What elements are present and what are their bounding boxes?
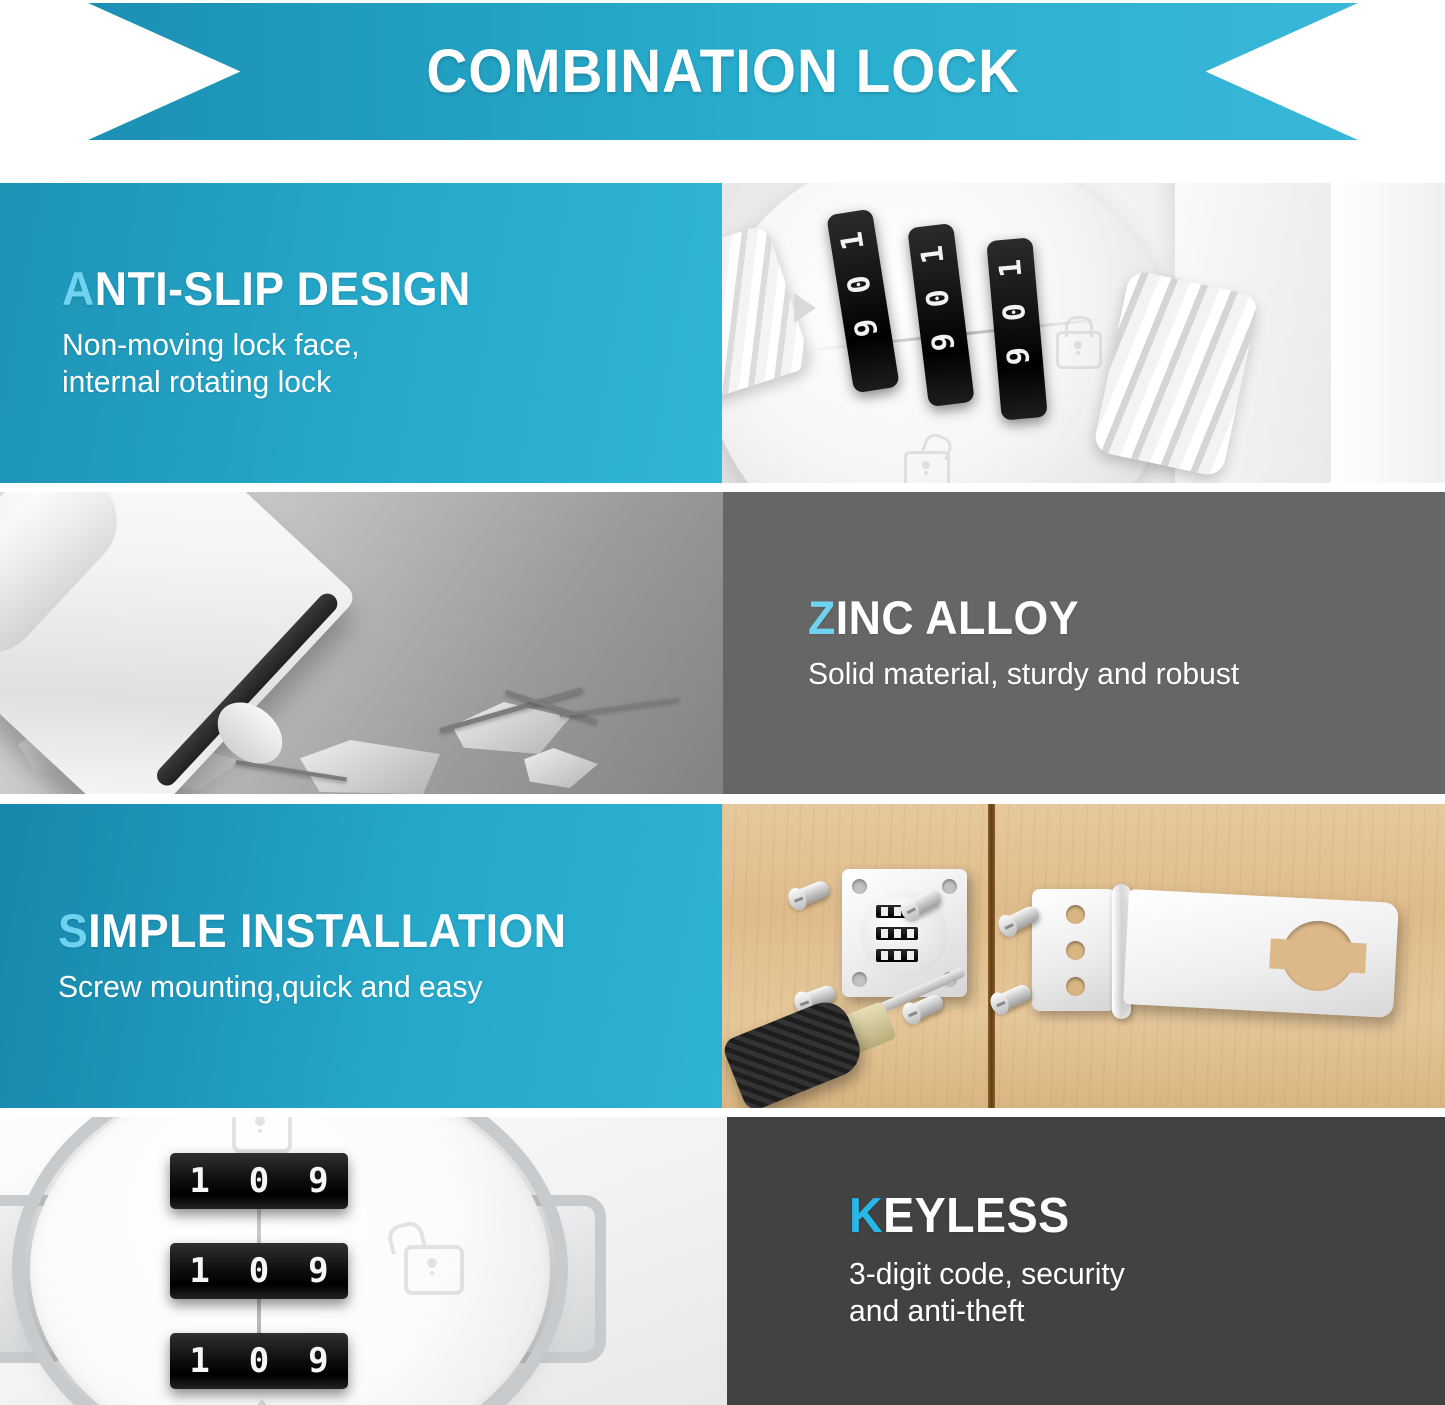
- feature-heading: ZINC ALLOY: [808, 594, 1413, 642]
- dial-digit: 9: [308, 1164, 328, 1198]
- padlock-locked-icon: [1056, 331, 1102, 369]
- page-title: COMBINATION LOCK: [426, 41, 1020, 102]
- dial-digit: 9: [308, 1344, 328, 1378]
- installation-photo: [722, 804, 1445, 1108]
- lock-face-macro-photo: 109 109 109: [722, 183, 1445, 483]
- feature-heading-rest: INC ALLOY: [836, 591, 1079, 644]
- dial-digit: 1: [916, 230, 951, 279]
- crack-line: [560, 697, 679, 717]
- pointer-triangle-icon: [238, 1399, 286, 1405]
- dial-digit: 0: [249, 1344, 269, 1378]
- door-seam: [988, 804, 995, 1108]
- feature-panel-anti-slip-design: ANTI-SLIP DESIGN Non-moving lock face, i…: [0, 183, 1445, 483]
- feature-subtext: Screw mounting,quick and easy: [58, 968, 702, 1006]
- impact-crack-photo: [0, 492, 723, 794]
- dial-digit: 9: [1002, 332, 1036, 380]
- dial-digit: 1: [189, 1164, 209, 1198]
- feature-heading: KEYLESS: [849, 1192, 1415, 1242]
- padlock-open-icon: [904, 451, 950, 483]
- dial-digit: 9: [849, 303, 886, 353]
- dial-code-photo: 1 0 9 1 0 9 1 0 9: [0, 1117, 727, 1405]
- hasp-arm: [1123, 889, 1399, 1018]
- feature-subtext: Non-moving lock face, internal rotating …: [62, 326, 702, 402]
- feature-subtext-line2: and anti-theft: [849, 1292, 1427, 1330]
- lock-bezel-edge-shape: [1331, 183, 1445, 483]
- feature-subtext-line1: Solid material, sturdy and robust: [808, 655, 1426, 693]
- feature-image-dial-code-photo: 1 0 9 1 0 9 1 0 9: [0, 1117, 727, 1405]
- screw-hole: [852, 879, 867, 894]
- feature-heading-highlight: K: [849, 1189, 883, 1243]
- feature-subtext: 3-digit code, security and anti-theft: [849, 1255, 1427, 1331]
- lock-dial-strip: [876, 927, 918, 940]
- padlock-open-icon: [404, 1245, 464, 1295]
- dial-digit: 0: [999, 288, 1033, 336]
- pointer-arrow-icon: [794, 293, 816, 323]
- feature-image-impact-crack-photo: [0, 492, 723, 794]
- dial-digit: 1: [189, 1254, 209, 1288]
- feature-heading: SIMPLE INSTALLATION: [58, 907, 689, 955]
- dial-digit: 9: [927, 317, 962, 366]
- feature-heading: ANTI-SLIP DESIGN: [62, 265, 689, 313]
- screw-hole: [852, 972, 867, 987]
- banner-container: COMBINATION LOCK: [0, 0, 1445, 152]
- feature-subtext: Solid material, sturdy and robust: [808, 655, 1426, 693]
- screw-hole: [1066, 977, 1085, 996]
- lock-dial-strip: [876, 949, 918, 962]
- dial-digit: 1: [189, 1344, 209, 1378]
- hasp-base-plate: [1032, 889, 1116, 1011]
- screw-hole: [1066, 905, 1085, 924]
- feature-subtext-line2: internal rotating lock: [62, 363, 702, 401]
- feature-heading-rest: NTI-SLIP DESIGN: [95, 262, 471, 315]
- feature-heading-highlight: Z: [808, 591, 836, 644]
- dial-digit: 0: [249, 1254, 269, 1288]
- feature-heading-highlight: S: [58, 904, 88, 957]
- feature-subtext-line1: 3-digit code, security: [849, 1255, 1427, 1293]
- screw-hole: [942, 879, 957, 894]
- lock-dial-strip-2[interactable]: 1 0 9: [170, 1243, 348, 1299]
- feature-text-block: ZINC ALLOY Solid material, sturdy and ro…: [723, 492, 1445, 794]
- lock-dial-strip-1[interactable]: 1 0 9: [170, 1153, 348, 1209]
- feature-subtext-line1: Screw mounting,quick and easy: [58, 968, 702, 1006]
- lock-dial-strip-3[interactable]: 1 0 9: [170, 1333, 348, 1389]
- feature-heading-rest: IMPLE INSTALLATION: [88, 904, 566, 957]
- ground-chunk: [524, 748, 598, 788]
- padlock-locked-icon: [232, 1117, 292, 1153]
- feature-image-installation-photo: [722, 804, 1445, 1108]
- feature-heading-highlight: A: [62, 262, 95, 315]
- feature-text-block: ANTI-SLIP DESIGN Non-moving lock face, i…: [0, 183, 722, 483]
- title-ribbon: COMBINATION LOCK: [88, 3, 1358, 140]
- ground-chunk: [300, 740, 440, 794]
- screw-hole: [1066, 941, 1085, 960]
- feature-subtext-line1: Non-moving lock face,: [62, 326, 702, 364]
- dial-digit: 0: [842, 259, 879, 309]
- feature-image-lock-face-macro-photo: 109 109 109: [722, 183, 1445, 483]
- feature-text-block: SIMPLE INSTALLATION Screw mounting,quick…: [0, 804, 722, 1108]
- dial-digit: 9: [308, 1254, 328, 1288]
- feature-panel-simple-installation: SIMPLE INSTALLATION Screw mounting,quick…: [0, 804, 1445, 1108]
- dial-digit: 1: [835, 216, 872, 266]
- dial-digit: 0: [921, 273, 956, 322]
- dial-digit: 0: [249, 1164, 269, 1198]
- feature-heading-rest: EYLESS: [883, 1189, 1070, 1243]
- feature-text-block: KEYLESS 3-digit code, security and anti-…: [727, 1117, 1445, 1405]
- feature-panel-zinc-alloy: ZINC ALLOY Solid material, sturdy and ro…: [0, 492, 1445, 794]
- hasp-keyhole-slot: [1280, 919, 1356, 993]
- feature-panel-keyless: 1 0 9 1 0 9 1 0 9 KEYLESS 3-digit code, …: [0, 1117, 1445, 1405]
- dial-digit: 1: [995, 244, 1029, 292]
